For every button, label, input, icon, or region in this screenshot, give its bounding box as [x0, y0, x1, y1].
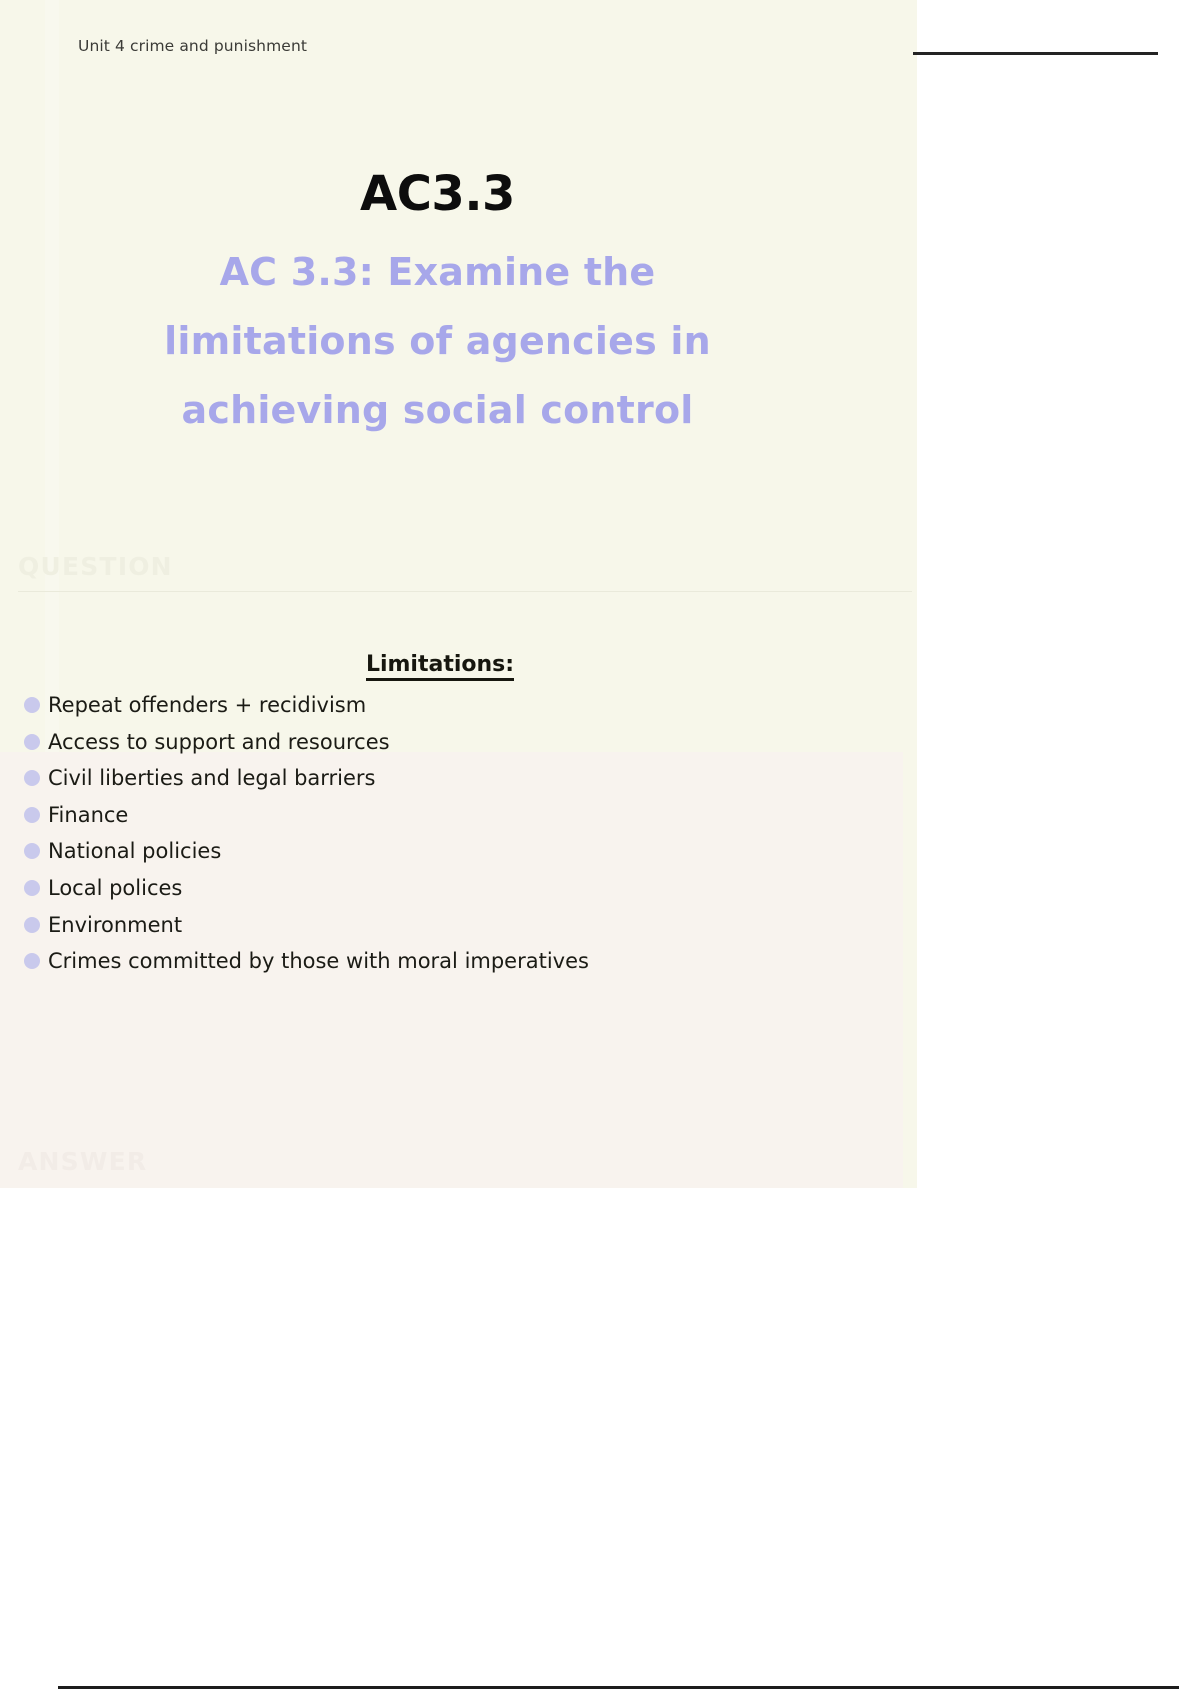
section-label-answer: ANSWER — [18, 1147, 147, 1176]
section-label-question: QUESTION — [18, 552, 173, 581]
list-item: Environment — [24, 910, 884, 947]
bullet-icon — [24, 697, 40, 713]
list-item-label: Civil liberties and legal barriers — [48, 766, 376, 790]
breadcrumb: Unit 4 crime and punishment — [78, 37, 307, 55]
list-item: Crimes committed by those with moral imp… — [24, 946, 884, 983]
list-item-label: Repeat offenders + recidivism — [48, 693, 366, 717]
bullet-icon — [24, 734, 40, 750]
question-card: Unit 4 crime and punishment AC3.3 AC 3.3… — [0, 0, 917, 1188]
list-item: Local polices — [24, 873, 884, 910]
page-sheet: Unit 4 crime and punishment AC3.3 AC 3.3… — [0, 0, 1200, 1700]
top-right-rule — [913, 52, 1158, 55]
bottom-rule — [58, 1686, 1179, 1689]
list-item-label: Access to support and resources — [48, 730, 390, 754]
list-item: Access to support and resources — [24, 727, 884, 764]
bullet-icon — [24, 843, 40, 859]
list-item: National policies — [24, 836, 884, 873]
list-item: Repeat offenders + recidivism — [24, 690, 884, 727]
bullet-icon — [24, 807, 40, 823]
bullet-icon — [24, 917, 40, 933]
limitations-heading: Limitations: — [0, 652, 880, 677]
list-item: Finance — [24, 800, 884, 837]
page-title: AC3.3 — [0, 168, 875, 221]
list-item-label: National policies — [48, 839, 221, 863]
list-item: Civil liberties and legal barriers — [24, 763, 884, 800]
list-item-label: Local polices — [48, 876, 182, 900]
list-item-label: Finance — [48, 803, 128, 827]
list-item-label: Crimes committed by those with moral imp… — [48, 949, 589, 973]
limitations-heading-text: Limitations: — [366, 652, 514, 681]
bullet-icon — [24, 770, 40, 786]
bullet-icon — [24, 880, 40, 896]
page-subtitle: AC 3.3: Examine the limitations of agenc… — [0, 238, 875, 445]
question-divider — [18, 591, 912, 592]
card-lower-tint-edge — [903, 752, 917, 1188]
bullet-icon — [24, 953, 40, 969]
list-item-label: Environment — [48, 913, 182, 937]
limitations-list: Repeat offenders + recidivism Access to … — [24, 690, 884, 983]
